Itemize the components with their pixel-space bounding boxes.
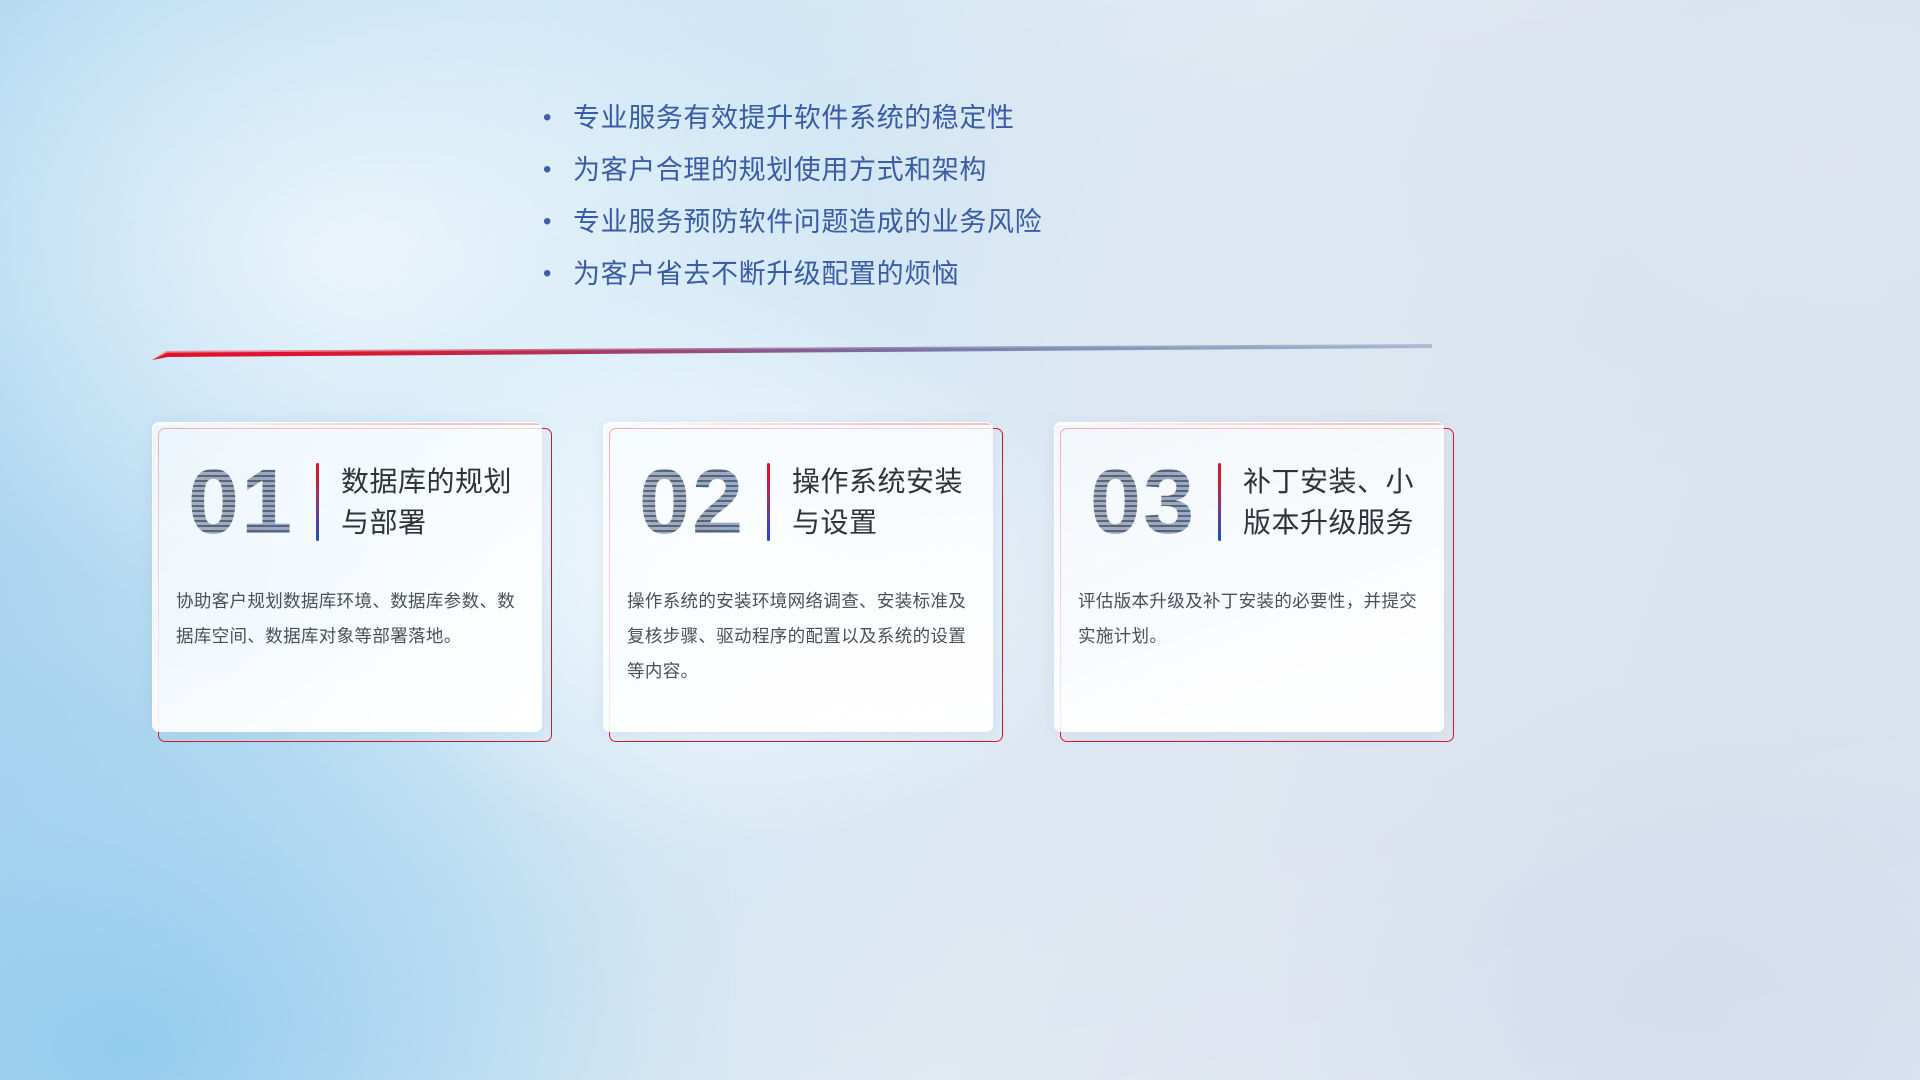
bullet-dot-icon: • [543, 196, 573, 248]
card-header: 03 补丁安装、小 版本升级服务 [1054, 446, 1444, 558]
benefits-bullet-list: • 专业服务有效提升软件系统的稳定性 • 为客户合理的规划使用方式和架构 • 专… [543, 92, 1163, 300]
card-number-02: 02 [621, 450, 763, 554]
card-header: 02 操作系统安装 与设置 [603, 446, 993, 558]
card-divider-bar [767, 463, 770, 541]
card-divider-bar [1218, 463, 1221, 541]
service-card-01[interactable]: 01 数据库的规划 与部署 协助客户规划数据库环境、数据库参数、数据库空间、数据… [152, 422, 548, 738]
card-header: 01 数据库的规划 与部署 [152, 446, 542, 558]
card-divider-bar [316, 463, 319, 541]
bullet-text-4: 为客户省去不断升级配置的烦恼 [573, 248, 959, 300]
card-title-line-2: 版本升级服务 [1243, 502, 1434, 543]
card-title-line-1: 数据库的规划 [341, 461, 532, 502]
card-title-01: 数据库的规划 与部署 [341, 461, 542, 543]
card-title-line-1: 操作系统安装 [792, 461, 983, 502]
bullet-dot-icon: • [543, 92, 573, 144]
card-title-line-2: 与设置 [792, 502, 983, 543]
bullet-item-2: • 为客户合理的规划使用方式和架构 [543, 144, 1163, 196]
bullet-text-2: 为客户合理的规划使用方式和架构 [573, 144, 987, 196]
bullet-text-3: 专业服务预防软件问题造成的业务风险 [573, 196, 1042, 248]
service-card-02[interactable]: 02 操作系统安装 与设置 操作系统的安装环境网络调查、安装标准及复核步骤、驱动… [603, 422, 999, 738]
card-number-03: 03 [1072, 450, 1214, 554]
card-number-01: 01 [170, 450, 312, 554]
bullet-text-1: 专业服务有效提升软件系统的稳定性 [573, 92, 1015, 144]
service-card-03[interactable]: 03 补丁安装、小 版本升级服务 评估版本升级及补丁安装的必要性，并提交实施计划… [1054, 422, 1450, 738]
bullet-dot-icon: • [543, 248, 573, 300]
card-title-02: 操作系统安装 与设置 [792, 461, 993, 543]
card-title-03: 补丁安装、小 版本升级服务 [1243, 461, 1444, 543]
service-card-row: 01 数据库的规划 与部署 协助客户规划数据库环境、数据库参数、数据库空间、数据… [152, 422, 1452, 744]
bullet-item-3: • 专业服务预防软件问题造成的业务风险 [543, 196, 1163, 248]
card-title-line-1: 补丁安装、小 [1243, 461, 1434, 502]
divider-wedge-shape [152, 340, 1432, 372]
card-body-01: 协助客户规划数据库环境、数据库参数、数据库空间、数据库对象等部署落地。 [176, 584, 520, 654]
card-body-02: 操作系统的安装环境网络调查、安装标准及复核步骤、驱动程序的配置以及系统的设置等内… [627, 584, 971, 689]
bullet-item-1: • 专业服务有效提升软件系统的稳定性 [543, 92, 1163, 144]
bullet-item-4: • 为客户省去不断升级配置的烦恼 [543, 248, 1163, 300]
section-divider [152, 340, 1432, 372]
card-body-03: 评估版本升级及补丁安装的必要性，并提交实施计划。 [1078, 584, 1422, 654]
card-title-line-2: 与部署 [341, 502, 532, 543]
bullet-dot-icon: • [543, 144, 573, 196]
